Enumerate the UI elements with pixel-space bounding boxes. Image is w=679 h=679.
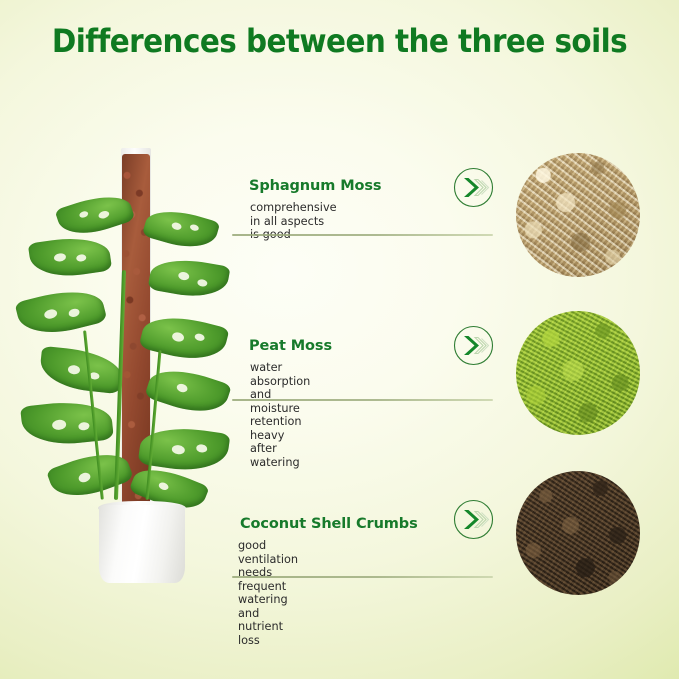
plant-leaf — [28, 233, 113, 282]
plant-leaf — [20, 397, 114, 448]
plant-leaf — [138, 308, 229, 367]
plant-leaf — [38, 346, 124, 394]
plant-pot — [99, 505, 185, 583]
soil-description: good ventilation needs frequent watering… — [238, 539, 298, 647]
plant-leaf — [147, 254, 230, 303]
soil-heading: Coconut Shell Crumbs — [240, 516, 418, 532]
double-chevron-right-icon[interactable] — [453, 167, 494, 208]
plant-illustration — [0, 120, 245, 620]
row-divider — [232, 234, 493, 236]
soil-heading: Sphagnum Moss — [249, 178, 381, 194]
page-title: Differences between the three soils — [27, 22, 652, 60]
row-divider — [232, 576, 493, 578]
sphagnum-moss-photo — [516, 153, 640, 277]
coconut-shell-crumbs-photo — [516, 471, 640, 595]
soil-heading: Peat Moss — [249, 338, 332, 354]
row-divider — [232, 399, 493, 401]
double-chevron-right-icon[interactable] — [453, 325, 494, 366]
soil-description: water absorption and moisture retention … — [250, 361, 310, 469]
soil-comparison-poster: Differences between the three soils — [0, 0, 679, 679]
peat-moss-photo — [516, 311, 640, 435]
double-chevron-right-icon[interactable] — [453, 499, 494, 540]
plant-leaf — [14, 282, 107, 342]
plant-leaf — [142, 203, 221, 256]
